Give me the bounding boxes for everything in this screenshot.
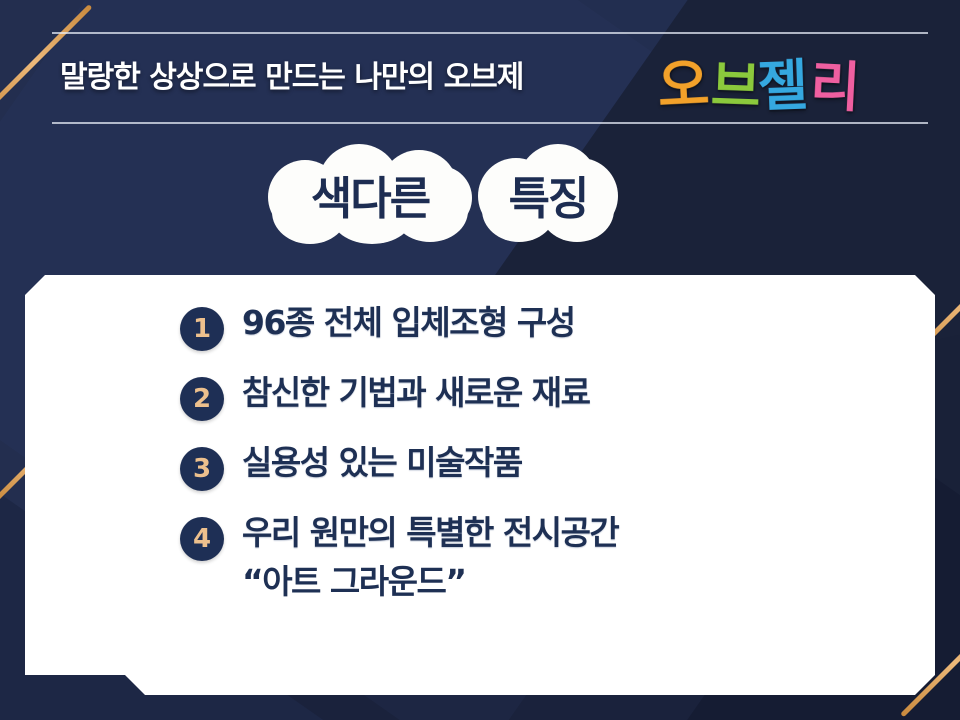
features-card: 1 96종 전체 입체조형 구성 2 참신한 기법과 새로운 재료 3 실용성 … — [25, 275, 935, 695]
feature-text-1: 96종 전체 입체조형 구성 — [242, 303, 575, 343]
feature-text-3: 실용성 있는 미술작품 — [242, 443, 522, 483]
brand-logo: 오 브 젤 리 — [660, 42, 857, 114]
title-bubble-2-label: 특징 — [509, 162, 588, 227]
logo-char-4: 리 — [809, 59, 859, 115]
features-list: 1 96종 전체 입체조형 구성 2 참신한 기법과 새로운 재료 3 실용성 … — [180, 303, 895, 603]
feature-badge-3: 3 — [180, 447, 224, 491]
header-rule-bottom — [52, 122, 928, 124]
title-row: 색다른 특징 4 — [0, 138, 960, 250]
feature-subtext-4: “아트 그라운드” — [242, 555, 618, 603]
feature-text-4: 우리 원만의 특별한 전시공간 — [242, 513, 618, 552]
feature-badge-1: 1 — [180, 307, 224, 351]
poster-root: 말랑한 상상으로 만드는 나만의 오브제 오 브 젤 리 색다른 — [0, 0, 960, 720]
feature-text-2: 참신한 기법과 새로운 재료 — [242, 373, 589, 413]
logo-char-1: 오 — [656, 57, 708, 116]
title-bubble-1-label: 색다른 — [311, 162, 429, 227]
feature-row-1: 1 96종 전체 입체조형 구성 — [180, 303, 895, 351]
feature-row-4: 4 우리 원만의 특별한 전시공간 “아트 그라운드” — [180, 513, 895, 603]
feature-row-2: 2 참신한 기법과 새로운 재료 — [180, 373, 895, 421]
feature-row-3: 3 실용성 있는 미술작품 — [180, 443, 895, 491]
feature-badge-2: 2 — [180, 377, 224, 421]
header-tagline: 말랑한 상상으로 만드는 나만의 오브제 — [60, 52, 523, 96]
title-bubble-teukjing: 특징 — [478, 144, 618, 244]
logo-char-3: 젤 — [757, 58, 808, 115]
feature-text-block-4: 우리 원만의 특별한 전시공간 “아트 그라운드” — [242, 513, 618, 603]
feature-badge-4: 4 — [180, 517, 224, 561]
title-bubble-saekdareun: 색다른 — [268, 144, 472, 244]
logo-char-2: 브 — [710, 59, 760, 115]
header-rule-top — [52, 32, 928, 34]
